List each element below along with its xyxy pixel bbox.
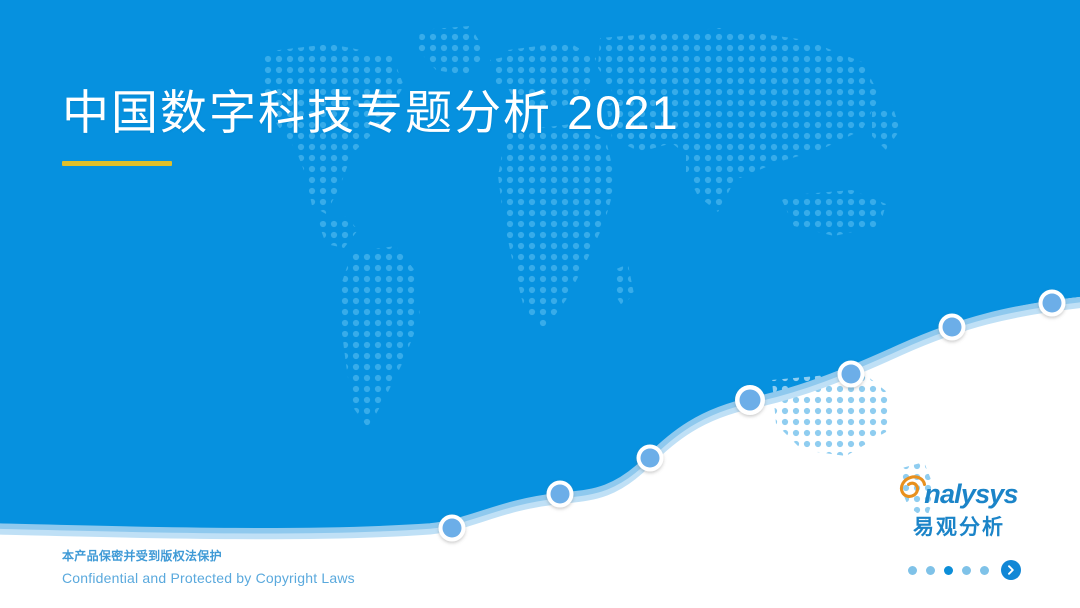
logo-brand-cn: 易观分析 (893, 511, 1025, 541)
page-title: 中国数字科技专题分析 2021 (62, 84, 902, 143)
chart-marker (735, 385, 765, 415)
chart-marker (637, 445, 664, 472)
next-slide-button[interactable] (1001, 560, 1021, 580)
chart-marker (439, 515, 466, 542)
title-underline-rule (62, 161, 172, 166)
confidential-notice: 本产品保密并受到版权法保护 Confidential and Protected… (62, 547, 355, 589)
pagination-dot[interactable] (908, 566, 917, 575)
title-block: 中国数字科技专题分析 2021 (62, 84, 902, 166)
confidential-notice-cn: 本产品保密并受到版权法保护 (62, 547, 355, 566)
chart-marker (547, 481, 574, 508)
pagination-dot[interactable] (926, 566, 935, 575)
confidential-notice-en: Confidential and Protected by Copyright … (62, 568, 355, 590)
title-slide: 中国数字科技专题分析 2021 本产品保密并受到版权法保护 Confidenti… (0, 0, 1080, 608)
logo-wordmark-text: nalysys (924, 478, 1017, 510)
pagination-dot[interactable] (962, 566, 971, 575)
chart-marker (939, 314, 966, 341)
pagination-dot[interactable] (980, 566, 989, 575)
chart-marker (1039, 290, 1066, 317)
chevron-right-icon (1006, 565, 1016, 575)
logo-wordmark: nalysys (893, 478, 1025, 510)
pagination (908, 560, 1021, 580)
pagination-dot-active[interactable] (944, 566, 953, 575)
analysys-a-swoosh-icon (899, 475, 929, 509)
analysys-logo: nalysys 易观分析 (893, 478, 1025, 541)
chart-marker (838, 361, 865, 388)
